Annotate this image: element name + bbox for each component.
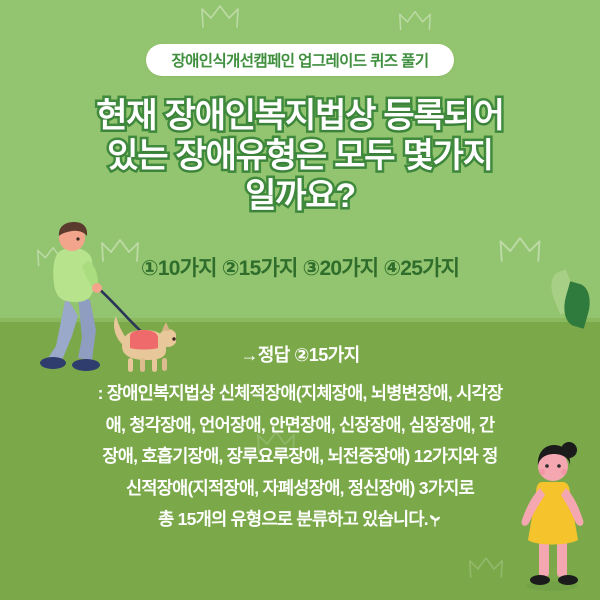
explanation-line-1: : 장애인복지법상 신체적장애(지체장애, 뇌병변장애, 시각장 <box>0 378 600 410</box>
woman-hair-bun <box>561 442 577 458</box>
campaign-badge: 장애인식개선캠페인 업그레이드 퀴즈 풀기 <box>146 44 454 76</box>
leash <box>98 288 144 334</box>
answer-choices-line: ①10가지 ②15가지 ③20가지 ④25가지 <box>141 257 459 280</box>
woman-shoe-left <box>530 575 550 585</box>
crown-decoration-icon <box>398 10 432 32</box>
explanation-line-4: 신적장애(지적장애, 자폐성장애, 정신장애) 3가지로 <box>0 473 600 505</box>
dog-leg-1 <box>128 358 133 372</box>
sprout-icon <box>428 506 442 520</box>
explanation-line-5-text: 총 15개의 유형으로 분류하고 있습니다. <box>158 509 428 529</box>
correct-answer-line: →정답 ②15가지 <box>240 345 359 365</box>
explanation-text: : 장애인복지법상 신체적장애(지체장애, 뇌병변장애, 시각장 애, 청각장애… <box>0 378 600 536</box>
quiz-card: 장애인식개선캠페인 업그레이드 퀴즈 풀기 현재 장애인복지법상 등록되어 있는… <box>0 0 600 600</box>
headline-line-1: 현재 장애인복지법상 등록되어 <box>0 96 600 136</box>
woman-blush-left <box>539 469 545 475</box>
man-eye <box>76 237 79 240</box>
dog-vest <box>130 330 158 350</box>
explanation-line-2: 애, 청각장애, 언어장애, 안면장애, 신장장애, 심장장애, 간 <box>0 410 600 442</box>
dog-eye <box>172 337 175 340</box>
woman-shoe-right <box>558 575 578 585</box>
woman-eye-right <box>557 464 561 468</box>
woman-eye-left <box>545 464 549 468</box>
man-hand <box>92 283 102 293</box>
man-shoe-front <box>72 359 100 371</box>
headline-line-3: 일까요? <box>0 176 600 216</box>
dog-leg-3 <box>152 358 157 372</box>
explanation-line-5: 총 15개의 유형으로 분류하고 있습니다. <box>0 504 600 536</box>
crown-decoration-icon <box>468 556 504 580</box>
man-shoe-back <box>40 357 66 369</box>
man-leg-front <box>78 296 96 360</box>
campaign-badge-label: 장애인식개선캠페인 업그레이드 퀴즈 풀기 <box>171 49 428 71</box>
dog-ear <box>162 322 170 331</box>
explanation-line-3: 장애, 호흡기장애, 장루요루장애, 뇌전증장애) 12가지와 정 <box>0 441 600 473</box>
dog-leg-2 <box>140 358 145 372</box>
man-leg-back <box>48 296 78 360</box>
question-headline: 현재 장애인복지법상 등록되어 있는 장애유형은 모두 몇가지 일까요? <box>0 96 600 216</box>
woman-standing-illustration <box>512 440 592 592</box>
woman-blush-right <box>561 469 567 475</box>
woman-dress <box>528 482 578 545</box>
man-walking-dog-illustration <box>26 218 176 378</box>
headline-line-2: 있는 장애유형은 모두 몇가지 <box>0 136 600 176</box>
crown-decoration-icon <box>200 4 240 30</box>
dog-leg-4 <box>162 358 167 371</box>
dog-tail <box>114 316 126 344</box>
